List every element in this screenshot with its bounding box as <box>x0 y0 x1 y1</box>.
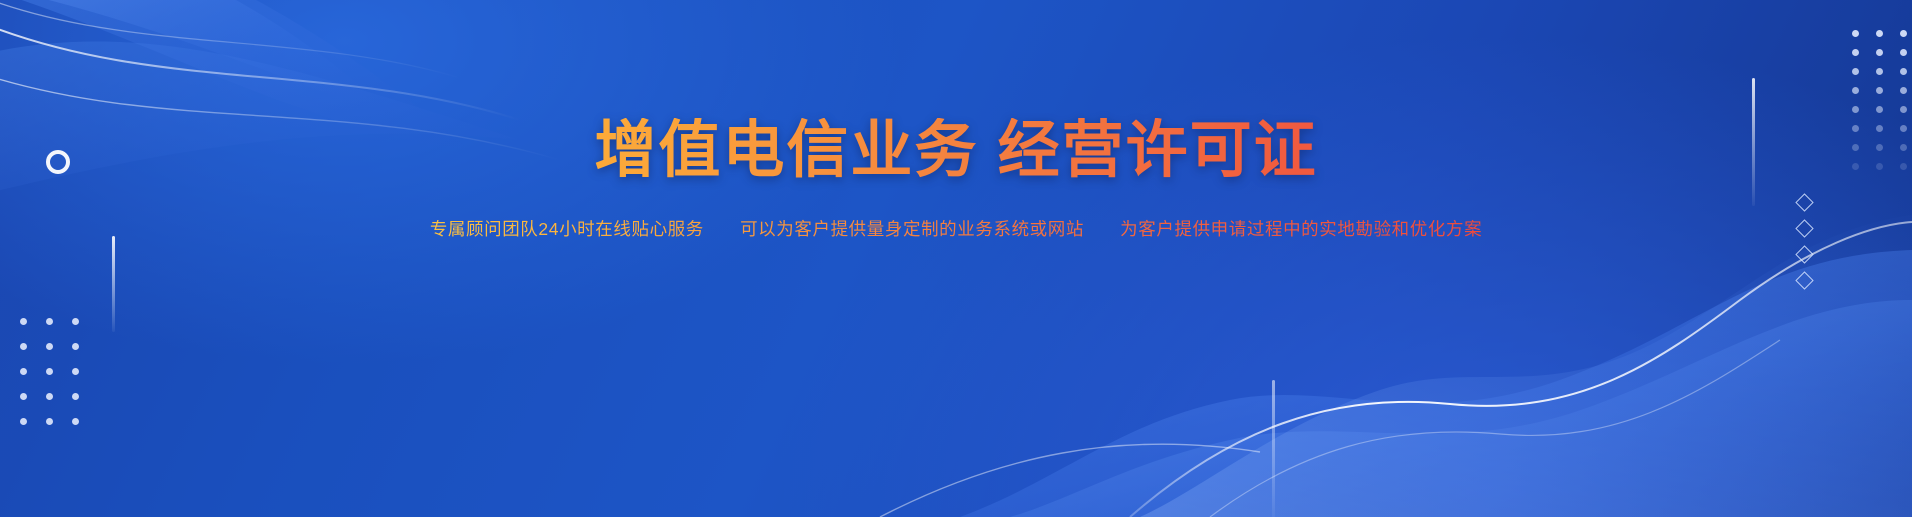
dot <box>1900 68 1907 75</box>
dot <box>1876 30 1883 37</box>
dot <box>1852 87 1859 94</box>
dot <box>20 418 27 425</box>
top-left-wave-decoration <box>0 0 1912 517</box>
dot <box>1852 30 1859 37</box>
dot <box>72 343 79 350</box>
dot <box>72 418 79 425</box>
dot <box>72 393 79 400</box>
dot <box>1876 106 1883 113</box>
dot <box>46 418 53 425</box>
dot <box>1900 87 1907 94</box>
dot <box>20 343 27 350</box>
dot <box>1852 68 1859 75</box>
dot <box>46 393 53 400</box>
dot <box>1852 106 1859 113</box>
dot <box>46 318 53 325</box>
dot <box>72 318 79 325</box>
vertical-light-bar-left <box>112 236 115 332</box>
dot-grid-left <box>20 318 98 443</box>
dot <box>20 368 27 375</box>
dot <box>46 368 53 375</box>
bottom-right-wave-decoration <box>0 0 1912 517</box>
banner-subheadline: 专属顾问团队24小时在线贴心服务 可以为客户提供量身定制的业务系统或网站 为客户… <box>0 217 1912 242</box>
diamond-outline-icon <box>1795 245 1813 263</box>
dot <box>1876 87 1883 94</box>
dot <box>20 318 27 325</box>
dot <box>1852 49 1859 56</box>
dot <box>1900 106 1907 113</box>
banner-headline: 增值电信业务 经营许可证 <box>0 118 1912 183</box>
dot <box>1900 30 1907 37</box>
dot <box>1876 49 1883 56</box>
diamond-outline-icon <box>1795 271 1813 289</box>
vertical-light-bar-middle <box>1272 380 1275 517</box>
dot <box>20 393 27 400</box>
promo-banner: 增值电信业务 经营许可证 专属顾问团队24小时在线贴心服务 可以为客户提供量身定… <box>0 0 1912 517</box>
dot <box>46 343 53 350</box>
dot <box>1900 49 1907 56</box>
dot <box>1876 68 1883 75</box>
dot <box>72 368 79 375</box>
banner-text-block: 增值电信业务 经营许可证 专属顾问团队24小时在线贴心服务 可以为客户提供量身定… <box>0 118 1912 242</box>
